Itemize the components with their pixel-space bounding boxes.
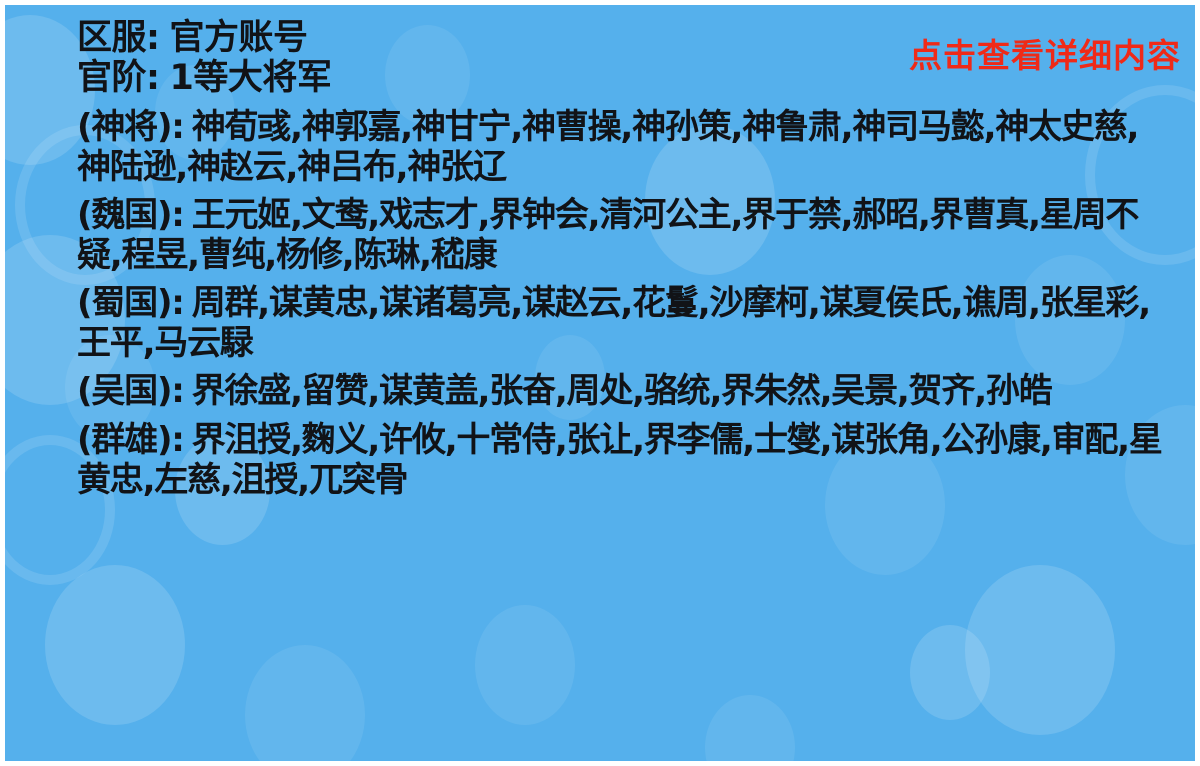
group-members: 界徐盛,留赞,谋黄盖,张奋,周处,骆统,界朱然,吴景,贺齐,孙皓: [192, 371, 1052, 411]
bubble-decoration: [965, 565, 1115, 735]
server-value: 官方账号: [170, 18, 308, 58]
info-content: 区服:官方账号 官阶:1等大将军 (神将):神荀彧,神郭嘉,神甘宁,神曹操,神孙…: [5, 5, 1195, 500]
group-name: (群雄):: [77, 420, 184, 460]
bubble-decoration: [705, 695, 795, 766]
group-row-weiguo: (魏国):王元姬,文鸯,戏志才,界钟会,清河公主,界于禁,郝昭,界曹真,星周不疑…: [77, 195, 1167, 275]
group-row-wuguo: (吴国):界徐盛,留赞,谋黄盖,张奋,周处,骆统,界朱然,吴景,贺齐,孙皓: [77, 371, 1167, 411]
group-members: 界沮授,麴义,许攸,十常侍,张让,界李儒,士燮,谋张角,公孙康,审配,星黄忠,左…: [77, 420, 1162, 500]
bubble-decoration: [245, 645, 365, 766]
group-row-qunxiong: (群雄):界沮授,麴义,许攸,十常侍,张让,界李儒,士燮,谋张角,公孙康,审配,…: [77, 420, 1167, 500]
group-name: (神将):: [77, 107, 184, 147]
server-label: 区服:: [77, 18, 160, 58]
group-row-shenjiang: (神将):神荀彧,神郭嘉,神甘宁,神曹操,神孙策,神鲁肃,神司马懿,神太史慈,神…: [77, 107, 1167, 187]
group-name: (蜀国):: [77, 283, 184, 323]
rank-value: 1等大将军: [170, 58, 332, 98]
group-members: 王元姬,文鸯,戏志才,界钟会,清河公主,界于禁,郝昭,界曹真,星周不疑,程昱,曹…: [77, 195, 1138, 275]
group-name: (魏国):: [77, 195, 184, 235]
bubble-decoration: [910, 625, 990, 720]
group-members: 周群,谋黄忠,谋诸葛亮,谋赵云,花鬘,沙摩柯,谋夏侯氏,谯周,张星彩,王平,马云…: [77, 283, 1150, 363]
rank-label: 官阶:: [77, 58, 160, 98]
view-details-link[interactable]: 点击查看详细内容: [909, 29, 1181, 77]
group-row-shuguo: (蜀国):周群,谋黄忠,谋诸葛亮,谋赵云,花鬘,沙摩柯,谋夏侯氏,谯周,张星彩,…: [77, 283, 1167, 363]
group-members: 神荀彧,神郭嘉,神甘宁,神曹操,神孙策,神鲁肃,神司马懿,神太史慈,神陆逊,神赵…: [77, 107, 1138, 187]
group-name: (吴国):: [77, 371, 184, 411]
bubble-decoration: [45, 565, 185, 725]
bubble-decoration: [475, 605, 575, 725]
game-character-info-screen: 点击查看详细内容 区服:官方账号 官阶:1等大将军 (神将):神荀彧,神郭嘉,神…: [0, 0, 1200, 766]
